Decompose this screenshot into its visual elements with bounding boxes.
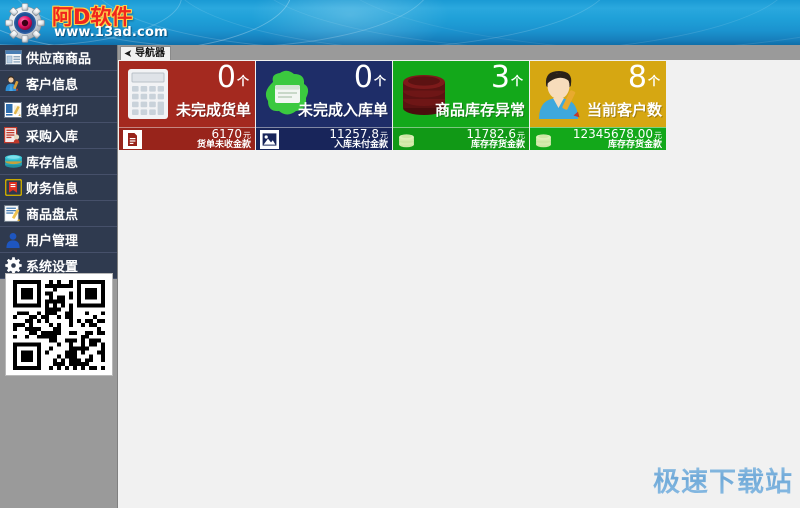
card-sublabel: 货单未收金款 [197,141,251,150]
qr-code-panel[interactable] [5,273,113,376]
sidebar-item-print-invoice[interactable]: 货单打印 [0,97,117,123]
card-top: 3个 商品库存异常 [393,61,529,127]
sidebar-item-label: 客户信息 [26,74,78,93]
sidebar-item-label: 货单打印 [26,100,78,119]
card-sublabel: 入库未付金款 [334,141,388,150]
sidebar-item-purchase-inbound[interactable]: 采购入库 [0,123,117,149]
finance-folder-icon [0,175,26,200]
clipboard-pencil-icon [0,201,26,226]
sidebar-item-label: 用户管理 [26,230,78,249]
database-stack-icon [0,149,26,174]
print-document-icon [0,97,26,122]
main-content-area: 导航器 [118,45,800,508]
app-header-banner: 阿D软件 www.13ad.com [0,0,800,45]
sidebar-item-inventory-info[interactable]: 库存信息 [0,149,117,175]
light-database-icon [534,130,553,149]
tab-strip: 导航器 [118,45,800,60]
user-silhouette-icon [0,227,26,252]
brand-logo-block: 阿D软件 www.13ad.com [0,0,180,45]
document-icon [123,130,142,149]
card-bottom: 11257.8元 入库未付金款 [256,127,392,150]
dashboard-cards-row: 0个 未完成货单 6170元 货单未收金款 [119,60,799,150]
card-title: 当前客户数 [587,99,662,120]
sidebar-item-customer-info[interactable]: 客户信息 [0,71,117,97]
sidebar-item-stocktaking[interactable]: 商品盘点 [0,201,117,227]
application-window: 阿D软件 www.13ad.com 供应商商品 [0,0,800,508]
sidebar-item-label: 商品盘点 [26,204,78,223]
sidebar-item-label: 采购入库 [26,126,78,145]
sidebar-item-supplier-products[interactable]: 供应商商品 [0,45,117,71]
card-top: 0个 未完成货单 [119,61,255,127]
card-top: 8个 当前客户数 [530,61,666,127]
sidebar-item-label: 库存信息 [26,152,78,171]
header-glow-decoration [250,0,450,45]
card-count: 3个 [491,63,523,96]
site-watermark: 极速下载站 [653,460,793,499]
tab-navigator[interactable]: 导航器 [120,46,171,60]
brand-url: www.13ad.com [54,25,168,40]
card-bottom: 11782.6元 库存存货金款 [393,127,529,150]
sidebar-item-user-management[interactable]: 用户管理 [0,227,117,253]
card-top: 0个 未完成入库单 [256,61,392,127]
card-count: 8个 [628,63,660,96]
card-title: 未完成入库单 [298,99,388,120]
card-unfinished-invoices[interactable]: 0个 未完成货单 6170元 货单未收金款 [119,61,255,150]
tab-label: 导航器 [135,49,165,59]
card-sublabel: 库存存货金款 [608,141,662,150]
calculator-icon [124,68,176,120]
user-pencil-icon [0,71,26,96]
gear-icon [5,3,45,43]
sidebar-item-finance-info[interactable]: 财务信息 [0,175,117,201]
customer-person-icon [535,68,587,120]
window-list-icon [0,45,26,70]
navigator-cursor-icon [124,49,133,58]
card-bottom: 12345678.00元 库存存货金款 [530,127,666,150]
qr-code-image [13,280,105,370]
sidebar-item-label: 供应商商品 [26,48,91,67]
card-unfinished-inbound[interactable]: 0个 未完成入库单 11257.8元 入库未付金款 [256,61,392,150]
card-count: 0个 [217,63,249,96]
sidebar-item-label: 财务信息 [26,178,78,197]
card-current-customers[interactable]: 8个 当前客户数 12345678.00元 库存存货金款 [530,61,666,150]
card-title: 商品库存异常 [435,99,525,120]
image-icon [260,130,279,149]
card-sublabel: 库存存货金款 [471,141,525,150]
card-title: 未完成货单 [176,99,251,120]
card-count: 0个 [354,63,386,96]
purchase-list-icon [0,123,26,148]
card-bottom: 6170元 货单未收金款 [119,127,255,150]
sidebar-menu: 供应商商品 客户信息 [0,45,117,279]
sidebar: 供应商商品 客户信息 [0,45,118,508]
card-inventory-anomaly[interactable]: 3个 商品库存异常 11782.6元 库存存货金款 [393,61,529,150]
light-database-icon [397,130,416,149]
